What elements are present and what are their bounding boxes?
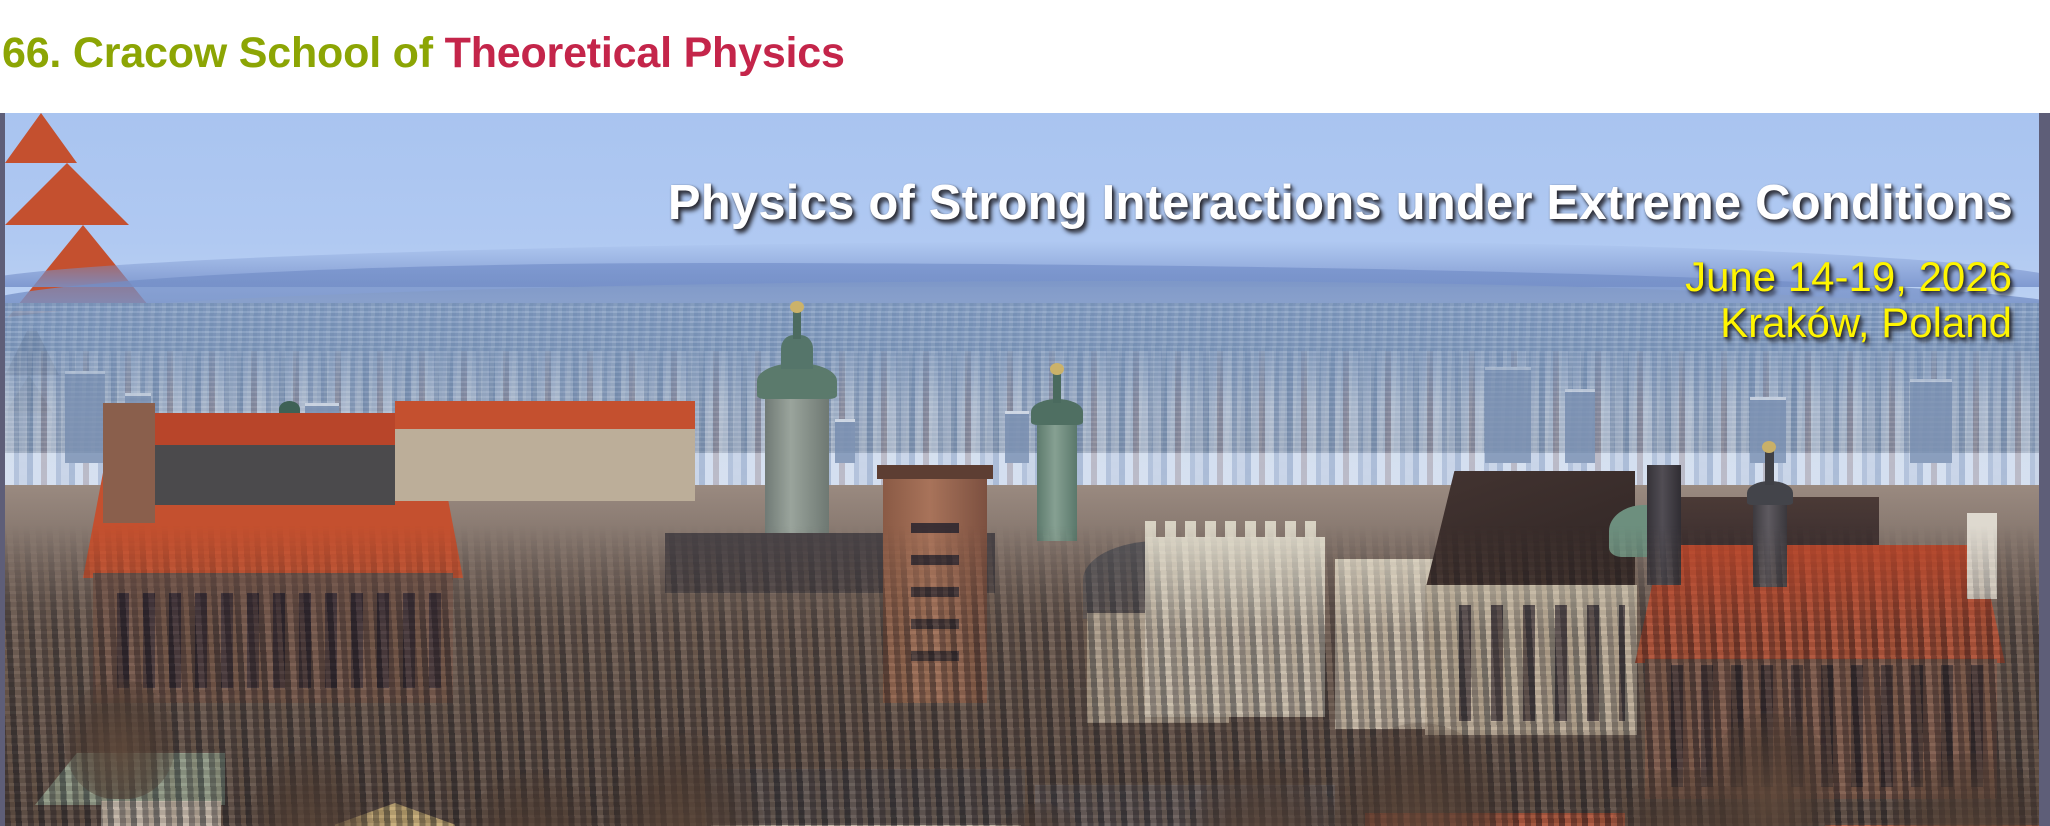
conference-banner-page: 66. Cracow School of Theoretical Physics bbox=[0, 0, 2050, 826]
cathedral-clock-tower bbox=[765, 393, 829, 543]
left-terrace-wall bbox=[395, 429, 695, 501]
sandomierska-tower-left-body bbox=[103, 403, 155, 523]
page-title-school-part: 66. Cracow School of bbox=[2, 29, 445, 77]
banner-location: Kraków, Poland bbox=[1685, 301, 2012, 345]
right-church-bell-tower-spire bbox=[1765, 449, 1774, 485]
banner-dates-location: June 14-19, 2026 Kraków, Poland bbox=[1685, 255, 2012, 345]
cathedral-silver-bells-finial bbox=[1050, 363, 1064, 375]
banner-dates: June 14-19, 2026 bbox=[1685, 255, 2012, 299]
cathedral-silver-bells-spire bbox=[1053, 371, 1061, 403]
sandomierska-tower-left-roof bbox=[5, 113, 77, 163]
left-castle-wing-roof bbox=[155, 413, 395, 447]
left-castle-wing-wall bbox=[155, 445, 395, 505]
page-title: 66. Cracow School of Theoretical Physics bbox=[0, 32, 845, 81]
banner-image: Physics of Strong Interactions under Ext… bbox=[0, 113, 2050, 826]
page-title-topic-part: Theoretical Physics bbox=[445, 29, 845, 77]
site-header: 66. Cracow School of Theoretical Physics bbox=[0, 0, 2050, 113]
left-terrace-roof bbox=[395, 401, 695, 431]
banner-headline: Physics of Strong Interactions under Ext… bbox=[668, 175, 2013, 231]
cathedral-clock-tower-finial bbox=[790, 301, 804, 313]
cathedral-silver-bells-tower bbox=[1037, 421, 1077, 541]
tree-8 bbox=[65, 679, 175, 799]
right-church-bell-tower-finial bbox=[1762, 441, 1776, 453]
cathedral-clock-tower-lantern bbox=[781, 335, 813, 369]
sandomierska-tower-roof bbox=[5, 163, 129, 225]
sandomierska-tower-crenellation bbox=[877, 465, 993, 479]
cathedral-clock-tower-spire bbox=[793, 309, 801, 339]
